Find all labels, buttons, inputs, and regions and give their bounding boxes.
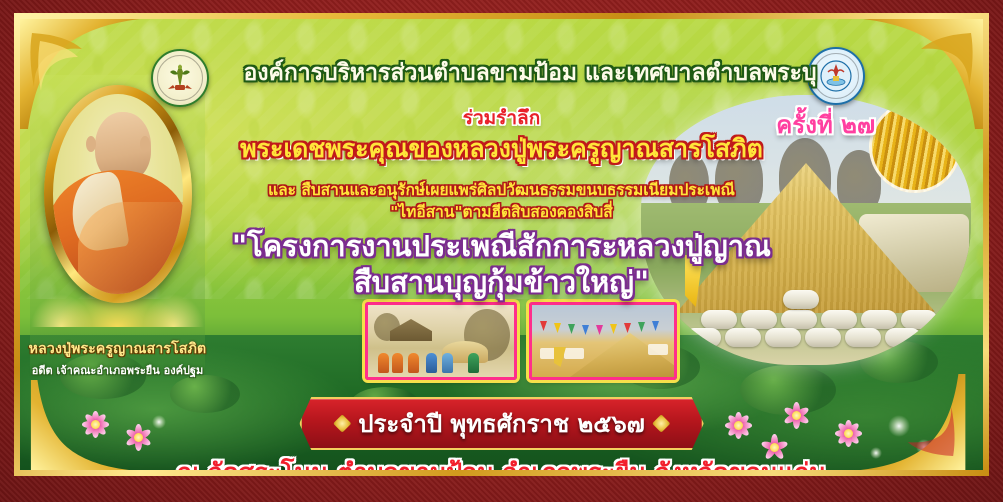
person-figure [426, 353, 437, 373]
diamond-ornament-icon [333, 414, 351, 432]
rice-sack [685, 328, 721, 347]
rice-sack [885, 328, 921, 347]
person-figure [442, 353, 453, 373]
lotus-flower-icon [124, 423, 152, 451]
rice-sack [805, 328, 841, 347]
village-painting-photo [365, 302, 517, 380]
rice-mound [570, 333, 677, 377]
person-figure [408, 353, 419, 373]
year-banner: ประจำปี พุทธศักราช ๒๕๖๗ [299, 397, 703, 450]
rice-sack [701, 310, 737, 329]
venue-line: ณ วัดสระโนน ตำบลขามป้อม อำเภอพระยืน จังห… [20, 453, 983, 476]
rice-sack [765, 328, 801, 347]
edition-badge: ครั้งที่ ๒๗ [776, 105, 875, 144]
person-figure [378, 353, 389, 373]
rice-sack [741, 310, 777, 329]
lotus-flower-icon [832, 417, 864, 449]
sparkle-icon [888, 415, 910, 437]
festival-flag-line [540, 321, 670, 333]
lotus-flower-icon [782, 401, 810, 429]
monk-caption: หลวงปู่พระครูญาณสารโสภิต อดีต เจ้าคณะอำเ… [22, 338, 213, 379]
organizations-line: องค์การบริหารส่วนตำบลขามป้อม และเทศบาลตำ… [200, 55, 860, 91]
seal-emblem-icon [160, 58, 200, 98]
rice-sack [781, 310, 817, 329]
year-text: ประจำปี พุทธศักราช ๒๕๖๗ [358, 404, 644, 443]
rice-sack [861, 310, 897, 329]
gold-inner-frame: หลวงปู่พระครูญาณสารโสภิต อดีต เจ้าคณะอำเ… [14, 13, 989, 476]
isan-tradition-line: "ไทอีสาน"ตามฮีตสิบสองคองสิบสี่ [20, 199, 983, 224]
rice-sack [821, 310, 857, 329]
rice-sack [901, 310, 937, 329]
monk-name: หลวงปู่พระครูญาณสารโสภิต [22, 338, 213, 360]
lily-pad [170, 375, 240, 413]
project-title-line-2: สืบสานบุญกุ้มข้าวใหญ่" [20, 259, 983, 305]
sparkle-icon [152, 415, 166, 429]
rice-pile-crowd-photo [529, 302, 677, 380]
diamond-ornament-icon [652, 414, 670, 432]
person-figure [392, 353, 403, 373]
lotus-flower-icon [78, 407, 112, 441]
rice-sack [845, 328, 881, 347]
festival-tent [648, 344, 668, 355]
lotus-flower-icon [720, 407, 756, 443]
rice-sack [725, 328, 761, 347]
monk-role: อดีต เจ้าคณะอำเภอพระยืน องค์ปฐม [22, 361, 213, 379]
person-figure [468, 353, 479, 373]
event-banner: หลวงปู่พระครูญาณสารโสภิต อดีต เจ้าคณะอำเ… [0, 0, 1003, 502]
festival-tent [564, 348, 584, 359]
